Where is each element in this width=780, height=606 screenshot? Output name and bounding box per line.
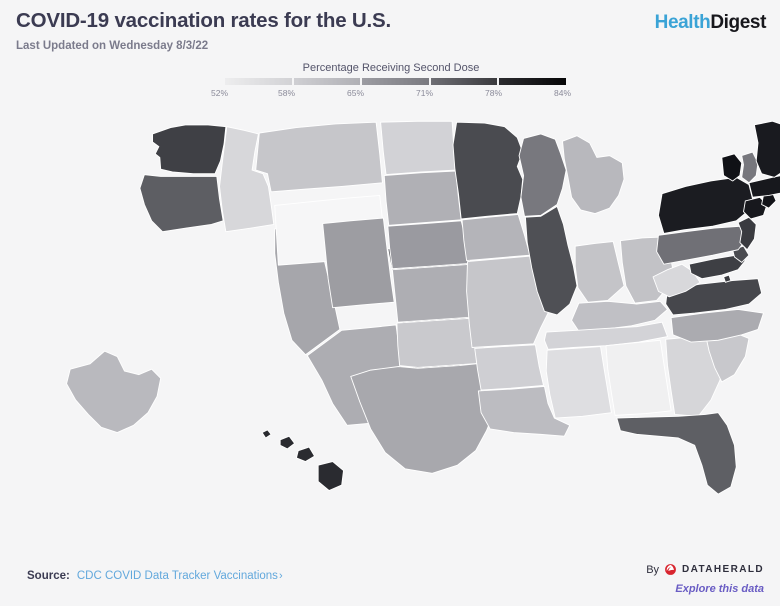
legend-segment-3 — [362, 78, 429, 85]
legend-segment-5 — [499, 78, 566, 85]
map-svg: Washington: 79.5%Oregon: 74%Idaho: 56%Ne… — [0, 100, 780, 540]
legend-color-bar — [225, 78, 566, 85]
state-vt[interactable]: Vermont: 84% — [722, 154, 742, 181]
page-title: COVID-19 vaccination rates for the U.S. — [16, 9, 391, 33]
state-ks[interactable]: Kansas: 66% — [392, 264, 479, 322]
state-ny[interactable]: New York: 83% — [658, 177, 752, 233]
dataherald-logo-icon — [664, 563, 677, 576]
infographic-card: COVID-19 vaccination rates for the U.S. … — [0, 0, 780, 606]
state-dc[interactable]: District of Columbia: 80% — [724, 275, 731, 282]
state-nd[interactable]: North Dakota: 57.5% — [381, 121, 456, 174]
last-updated-text: Last Updated on Wednesday 8/3/22 — [16, 40, 208, 52]
legend-tick-5: 84% — [554, 88, 571, 98]
legend-tick-2: 65% — [347, 88, 364, 98]
state-ms[interactable]: Mississippi: 56.5% — [546, 347, 611, 418]
state-ut[interactable]: Utah: 68% — [323, 218, 394, 308]
brand-secondary-text: Digest — [710, 12, 766, 33]
legend-segment-2 — [294, 78, 361, 85]
legend-tick-3: 71% — [416, 88, 433, 98]
state-ne[interactable]: Nebraska: 68.5% — [388, 221, 471, 269]
state-mn[interactable]: Minnesota: 78% — [453, 122, 523, 219]
state-ar[interactable]: Arkansas: 59% — [475, 345, 544, 390]
state-or[interactable]: Oregon: 74% — [140, 175, 223, 232]
state-group: Washington: 79.5%Oregon: 74%Idaho: 56%Ne… — [67, 121, 780, 494]
legend-tick-4: 78% — [485, 88, 502, 98]
credit-brand-name: DATAHERALD — [682, 564, 764, 575]
brand-primary-text: Health — [655, 12, 711, 33]
state-hi[interactable]: Hawaii: 81.5% — [262, 430, 343, 491]
state-tx[interactable]: Texas: 67% — [351, 363, 496, 473]
healthdigest-logo: HealthDigest — [655, 12, 766, 34]
state-al[interactable]: Alabama: 53% — [606, 340, 671, 415]
credit-by-label: By — [646, 564, 659, 576]
state-sd[interactable]: South Dakota: 65.5% — [384, 171, 461, 225]
legend-tick-0: 52% — [211, 88, 228, 98]
state-wa[interactable]: Washington: 79.5% — [153, 125, 226, 174]
chevron-right-icon: › — [279, 570, 283, 582]
state-mi[interactable]: Michigan: 64.5% — [563, 136, 625, 214]
state-ak[interactable]: Alaska: 64% — [67, 351, 161, 432]
legend: Percentage Receiving Second Dose 52% 58%… — [211, 62, 571, 102]
state-ia[interactable]: Iowa: 65% — [462, 214, 530, 260]
state-mt[interactable]: Montana: 59.5% — [256, 122, 383, 192]
source-link[interactable]: CDC COVID Data Tracker Vaccinations — [77, 570, 278, 582]
dataherald-credit: By DATAHERALD — [646, 563, 764, 576]
state-nh[interactable]: New Hampshire: 70% — [742, 152, 758, 183]
legend-segment-1 — [225, 78, 292, 85]
legend-tick-1: 58% — [278, 88, 295, 98]
state-wi[interactable]: Wisconsin: 71.5% — [519, 134, 566, 216]
source-line: Source:CDC COVID Data Tracker Vaccinatio… — [27, 570, 283, 582]
state-me[interactable]: Maine: 83% — [754, 121, 780, 177]
footer: Source:CDC COVID Data Tracker Vaccinatio… — [0, 546, 780, 606]
header: COVID-19 vaccination rates for the U.S. … — [0, 0, 780, 60]
us-choropleth-map[interactable]: Washington: 79.5%Oregon: 74%Idaho: 56%Ne… — [0, 100, 780, 540]
state-nc[interactable]: North Carolina: 66.5% — [671, 309, 763, 342]
legend-segment-4 — [431, 78, 498, 85]
state-fl[interactable]: Florida: 74% — [617, 413, 736, 494]
state-in[interactable]: Indiana: 61% — [575, 242, 624, 303]
source-label: Source: — [27, 570, 70, 582]
state-shapes: Washington: 79.5%Oregon: 74%Idaho: 56%Ne… — [67, 121, 780, 494]
legend-title: Percentage Receiving Second Dose — [211, 62, 571, 74]
explore-this-data-link[interactable]: Explore this data — [675, 583, 764, 595]
